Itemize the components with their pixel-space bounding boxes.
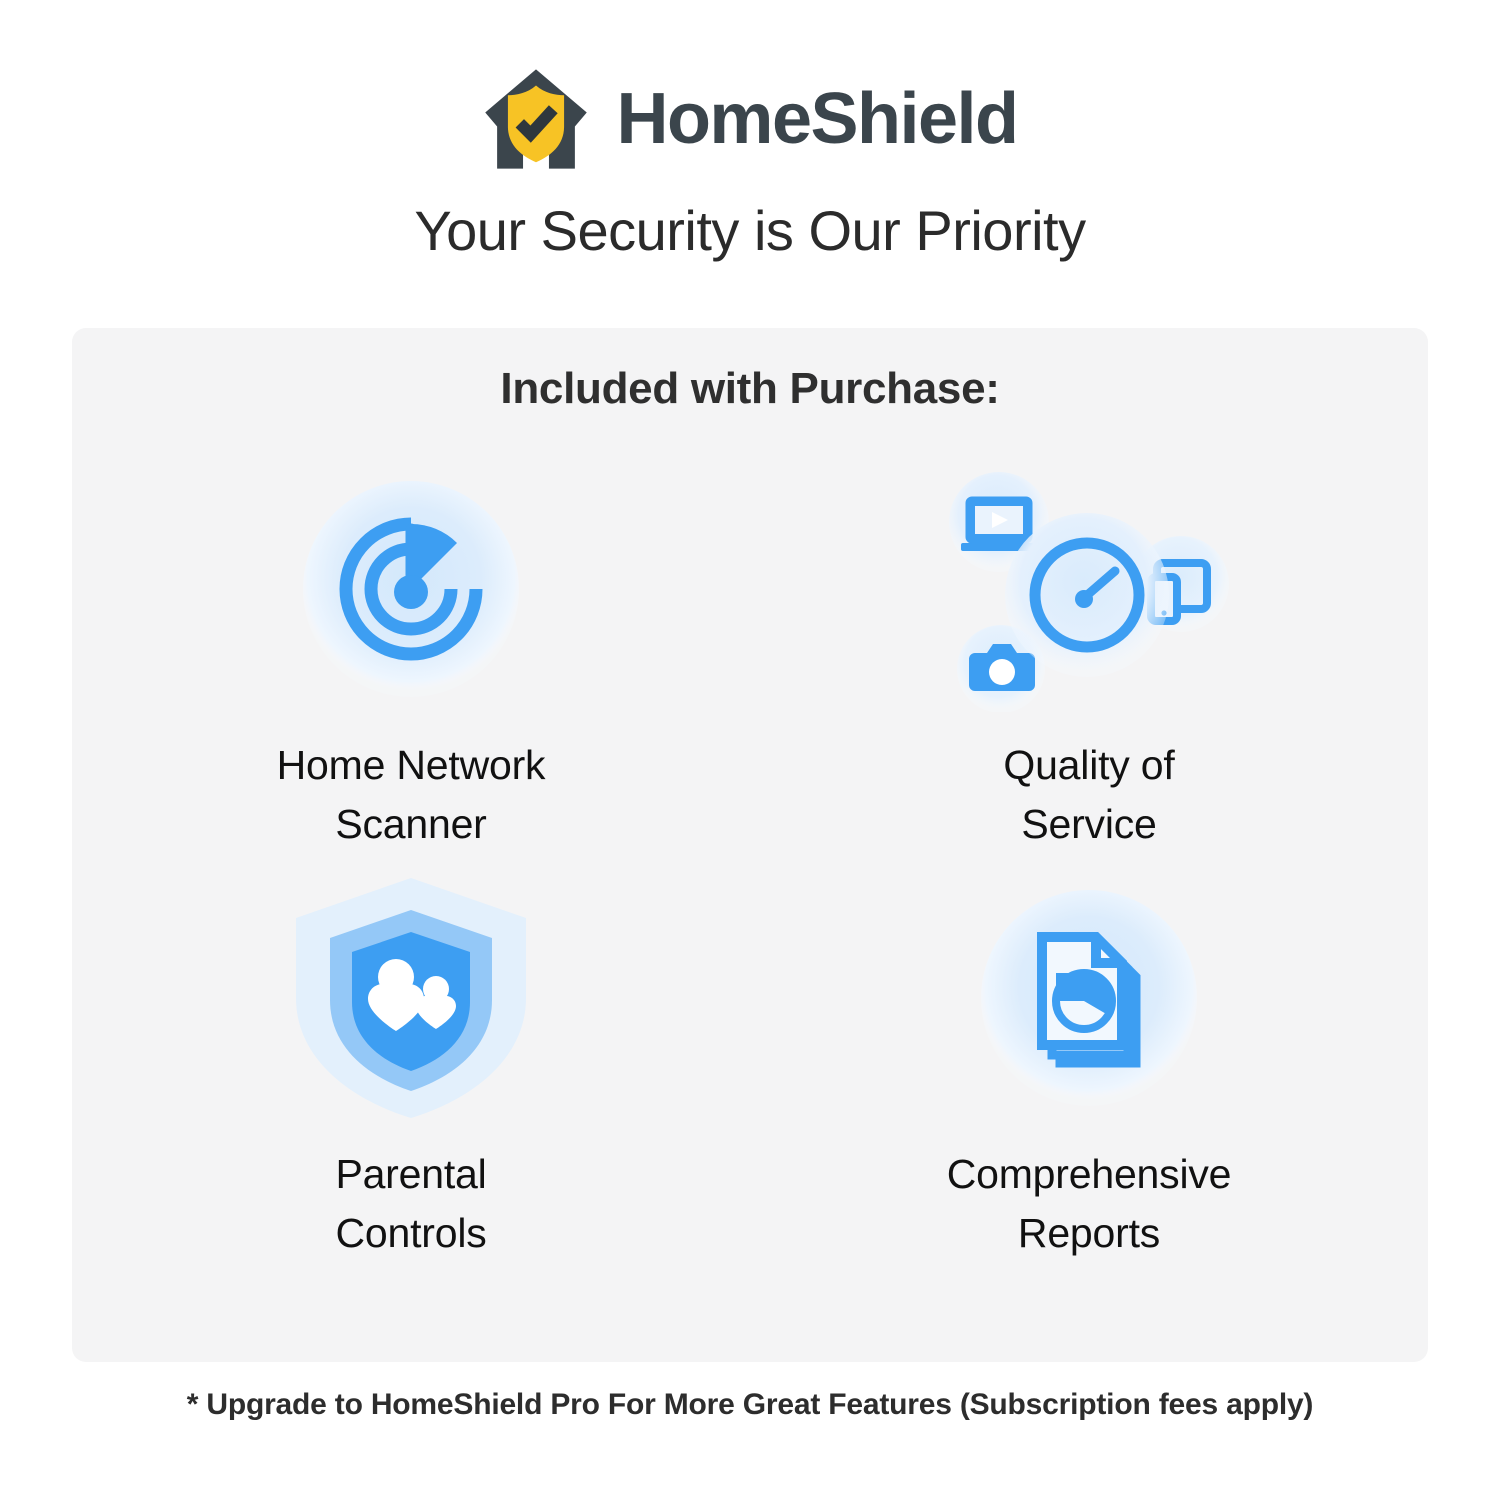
feature-icon-wrap xyxy=(296,464,526,714)
shield-family-icon xyxy=(286,870,536,1125)
speedometer-icon xyxy=(1005,513,1169,677)
documents-pie-chart-icon xyxy=(974,883,1204,1113)
house-shield-check-icon xyxy=(482,65,590,173)
feature-quality-of-service: Quality of Service xyxy=(750,446,1428,855)
tagline: Your Security is Our Priority xyxy=(414,200,1085,262)
feature-icon-wrap xyxy=(286,873,536,1123)
footnote: * Upgrade to HomeShield Pro For More Gre… xyxy=(0,1388,1500,1422)
radar-scanner-icon xyxy=(296,474,526,704)
feature-home-network-scanner: Home Network Scanner xyxy=(72,446,750,855)
feature-label: Quality of Service xyxy=(1003,736,1174,855)
included-with-purchase-panel: Included with Purchase: xyxy=(72,328,1428,1362)
feature-parental-controls: Parental Controls xyxy=(72,855,750,1264)
brand-header: HomeShield xyxy=(482,64,1017,174)
homeshield-feature-page: HomeShield Your Security is Our Priority… xyxy=(0,0,1500,1500)
quality-of-service-icon xyxy=(939,467,1239,712)
brand-name: HomeShield xyxy=(616,83,1017,155)
feature-grid: Home Network Scanner xyxy=(72,446,1428,1264)
feature-icon-wrap xyxy=(974,873,1204,1123)
feature-icon-wrap xyxy=(939,464,1239,714)
feature-label: Home Network Scanner xyxy=(277,736,546,855)
feature-label: Parental Controls xyxy=(335,1145,486,1264)
feature-comprehensive-reports: Comprehensive Reports xyxy=(750,855,1428,1264)
feature-label: Comprehensive Reports xyxy=(947,1145,1232,1264)
panel-title: Included with Purchase: xyxy=(72,364,1428,414)
